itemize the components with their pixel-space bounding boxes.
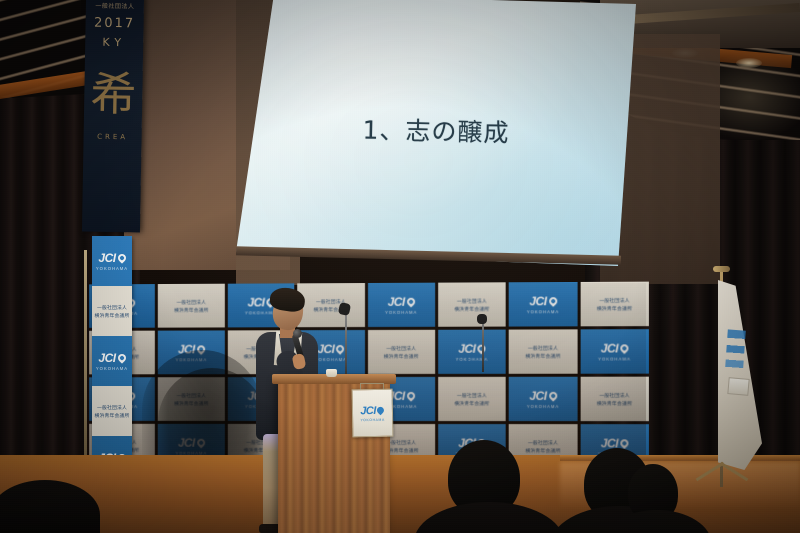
jci-brand-text: JCI <box>529 389 546 403</box>
backdrop-tile-white: 一般社団法人横浜青年会議所 <box>580 377 649 421</box>
backdrop-tile-white: 一般社団法人横浜青年会議所 <box>158 377 224 421</box>
podium-placard: JCI YOKOHAMA <box>352 389 394 438</box>
backdrop-jp-line1: 一般社団法人 <box>386 439 416 446</box>
backdrop-tile-white: 一般社団法人横浜青年会議所 <box>438 282 506 326</box>
location-pin-icon <box>619 343 631 354</box>
jci-brand-text: JCI <box>529 294 546 308</box>
backdrop-tile-blue: JCIYOKOHAMA <box>158 330 224 374</box>
banner-stand-pole <box>84 250 87 490</box>
jci-sub-text: YOKOHAMA <box>385 310 417 315</box>
side-banner-cell-blue: JCIYOKOHAMA <box>92 336 132 386</box>
backdrop-jp-line2: 横浜青年会議所 <box>597 304 633 311</box>
event-banner-org: 一般社団法人 <box>86 1 144 11</box>
jci-brand-text: JCI <box>388 295 405 309</box>
backdrop-jp-line2: 横浜青年会議所 <box>597 399 633 406</box>
projection-screen: 1、志の醸成 <box>236 0 636 272</box>
jci-logo: JCI <box>388 295 415 309</box>
side-banner-jp-line1: 一般社団法人 <box>97 304 127 311</box>
location-pin-icon <box>195 437 206 448</box>
flag-finial <box>713 266 730 272</box>
backdrop-tile-white: 一般社団法人横浜青年会議所 <box>367 330 435 374</box>
audience-member <box>428 440 578 533</box>
jci-logo: JCI <box>98 251 125 265</box>
backdrop-tile-blue: JCIYOKOHAMA <box>580 329 649 374</box>
backdrop-tile-white: 一般社団法人横浜青年会議所 <box>158 284 224 328</box>
backdrop-jp-line1: 一般社団法人 <box>386 344 416 351</box>
jci-sub-text: YOKOHAMA <box>96 266 128 271</box>
backdrop-tile-blue: JCIYOKOHAMA <box>509 377 577 421</box>
jci-popup-banner: JCIYOKOHAMA一般社団法人横浜青年会議所JCIYOKOHAMA一般社団法… <box>92 236 132 486</box>
event-vertical-banner: 一般社団法人 2017 KY 希 CREA <box>82 0 144 232</box>
location-pin-icon <box>547 390 558 401</box>
jci-brand-text: JCI <box>178 436 195 450</box>
jci-logo: JCI <box>529 389 557 403</box>
backdrop-jp-line1: 一般社団法人 <box>599 296 630 303</box>
location-pin-icon <box>116 352 127 363</box>
backdrop-jp-line2: 横浜青年会議所 <box>174 400 208 407</box>
backdrop-jp-line2: 横浜青年会議所 <box>454 399 489 406</box>
backdrop-jp-line2: 横浜青年会議所 <box>174 306 208 313</box>
backdrop-jp-line1: 一般社団法人 <box>457 297 487 304</box>
backdrop-jp-line1: 一般社団法人 <box>528 344 558 351</box>
stage-presentation-photo: 1、志の醸成 一般社団法人 2017 KY 希 CREA JCIYOKOHAMA… <box>0 0 800 533</box>
flag-badge <box>727 377 749 396</box>
backdrop-tile-white: 一般社団法人横浜青年会議所 <box>580 282 649 327</box>
backdrop-jp-line2: 横浜青年会議所 <box>525 352 560 359</box>
placard-sub-text: YOKOHAMA <box>360 417 384 421</box>
backdrop-jp-line1: 一般社団法人 <box>177 392 207 399</box>
jci-logo: JCI <box>98 351 125 365</box>
placard-brand-text: JCI <box>360 404 376 416</box>
jci-sub-text: YOKOHAMA <box>527 309 560 314</box>
microphone-icon <box>477 314 487 324</box>
audience-member <box>0 470 80 533</box>
side-banner-cell-white: 一般社団法人横浜青年会議所 <box>92 286 132 336</box>
side-banner-jp-line2: 横浜青年会議所 <box>95 412 130 419</box>
jci-sub-text: YOKOHAMA <box>527 404 560 409</box>
jci-brand-text: JCI <box>601 341 619 355</box>
backdrop-jp-line2: 横浜青年会議所 <box>384 352 419 359</box>
jci-logo: JCI <box>529 294 557 308</box>
jci-logo: JCI <box>178 342 205 356</box>
location-pin-icon <box>116 252 127 263</box>
drinking-cup <box>326 369 337 377</box>
location-pin-icon <box>405 390 416 401</box>
backdrop-tile-blue: JCIYOKOHAMA <box>367 283 435 327</box>
ceiling-light-icon <box>736 58 762 68</box>
microphone-stand-secondary <box>482 320 484 372</box>
microphone-capsule-icon <box>293 329 302 338</box>
jci-sub-text: YOKOHAMA <box>175 357 207 362</box>
event-banner-keyword: KY <box>85 36 143 50</box>
backdrop-tile-white: 一般社団法人横浜青年会議所 <box>438 377 506 421</box>
microphone-stand <box>345 310 347 380</box>
side-banner-jp-line2: 横浜青年会議所 <box>95 312 130 319</box>
event-banner-year: 2017 <box>85 16 143 32</box>
backdrop-jp-line2: 横浜青年会議所 <box>454 305 489 312</box>
backdrop-tile-blue: JCIYOKOHAMA <box>509 282 577 327</box>
side-banner-cell-blue: JCIYOKOHAMA <box>92 236 132 286</box>
location-pin-icon <box>375 405 385 415</box>
backdrop-jp-line1: 一般社団法人 <box>599 391 630 398</box>
event-banner-kanji: 希 <box>84 71 143 118</box>
jci-brand-text: JCI <box>98 251 115 265</box>
location-pin-icon <box>195 344 206 355</box>
side-banner-jp-line1: 一般社団法人 <box>97 404 127 411</box>
side-banner-cell-white: 一般社団法人横浜青年会議所 <box>92 386 132 436</box>
jci-logo: JCI <box>601 341 629 355</box>
backdrop-jp-line1: 一般社団法人 <box>177 298 207 305</box>
jci-sub-text: YOKOHAMA <box>96 366 128 371</box>
placard-jci-logo: JCI <box>360 404 385 416</box>
backdrop-tile-blue: JCIYOKOHAMA <box>438 330 506 374</box>
jci-brand-text: JCI <box>458 342 475 356</box>
backdrop-jp-line1: 一般社団法人 <box>457 391 487 398</box>
audience-member <box>628 464 738 533</box>
jci-sub-text: YOKOHAMA <box>598 356 631 361</box>
event-banner-tagline: CREA <box>84 132 142 141</box>
backdrop-tile-white: 一般社団法人横浜青年会議所 <box>509 329 577 373</box>
jci-brand-text: JCI <box>178 342 195 356</box>
audience-shoulders <box>414 502 564 533</box>
jci-logo: JCI <box>178 436 205 450</box>
jci-brand-text: JCI <box>98 351 115 365</box>
location-pin-icon <box>547 296 558 307</box>
flag-emblem <box>724 329 746 382</box>
location-pin-icon <box>405 296 416 307</box>
